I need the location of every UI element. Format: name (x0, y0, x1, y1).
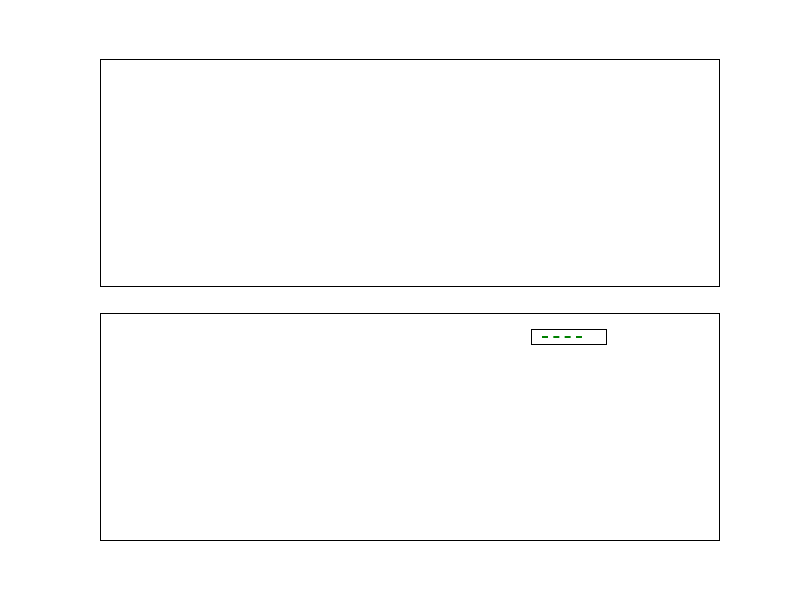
legend (531, 329, 607, 345)
mag-limit-line-icon (542, 336, 582, 338)
figure (0, 0, 800, 600)
top-histogram-axes (100, 59, 720, 287)
cumulative-curve (101, 314, 719, 540)
histogram-bars (101, 60, 719, 286)
bottom-cumulative-axes (100, 313, 720, 541)
